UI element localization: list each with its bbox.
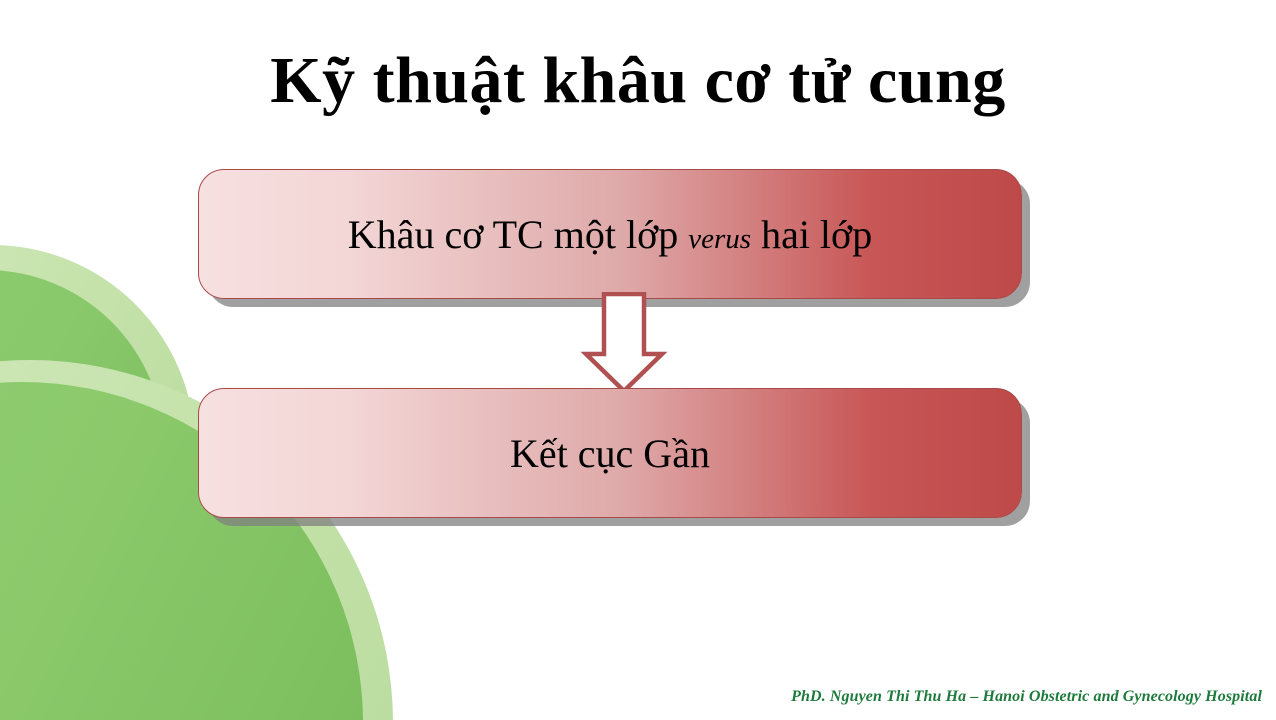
slide-canvas: Kỹ thuật khâu cơ tử cung Khâu cơ TC một … xyxy=(0,0,1276,720)
page-title: Kỹ thuật khâu cơ tử cung xyxy=(0,46,1276,115)
flow-box-comparison-text-emphasis: verus xyxy=(688,223,751,255)
flow-box-comparison-text-before: Khâu cơ TC một lớp xyxy=(348,212,688,257)
flow-box-comparison-label: Khâu cơ TC một lớp verus hai lớp xyxy=(348,211,872,258)
flow-box-comparison-text-after: hai lớp xyxy=(751,212,872,257)
flow-box-comparison[interactable]: Khâu cơ TC một lớp verus hai lớp xyxy=(198,169,1022,299)
down-arrow-icon xyxy=(578,292,670,394)
footer-credit: PhD. Nguyen Thi Thu Ha – Hanoi Obstetric… xyxy=(791,688,1262,706)
flow-box-outcome-label: Kết cục Gần xyxy=(510,430,710,477)
flow-box-outcome-text-before: Kết cục Gần xyxy=(510,431,710,476)
flow-box-outcome[interactable]: Kết cục Gần xyxy=(198,388,1022,518)
green-circle-upper xyxy=(0,245,195,651)
